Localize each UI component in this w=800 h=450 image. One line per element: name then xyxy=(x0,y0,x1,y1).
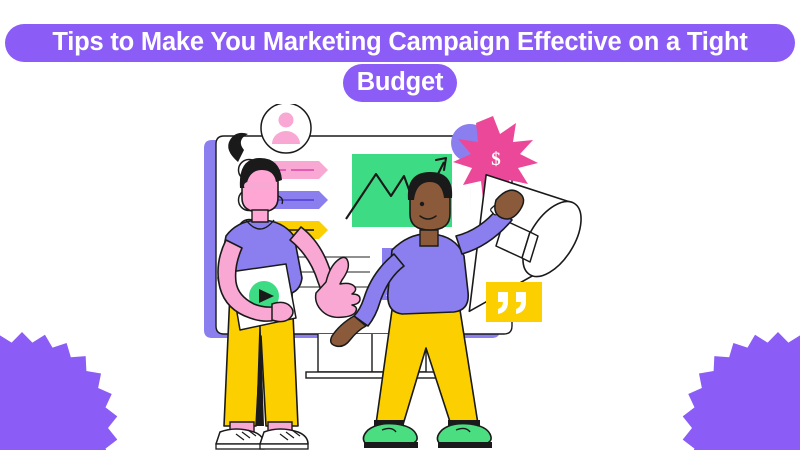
page-root: Tips to Make You Marketing Campaign Effe… xyxy=(0,0,800,450)
page-title-line-1: Tips to Make You Marketing Campaign Effe… xyxy=(5,24,795,62)
starburst-bottom-right xyxy=(678,328,800,450)
svg-text:$: $ xyxy=(491,149,501,170)
page-title: Tips to Make You Marketing Campaign Effe… xyxy=(0,24,800,102)
user-avatar xyxy=(261,104,311,153)
starburst-bottom-left xyxy=(0,328,122,450)
page-title-line-2: Budget xyxy=(343,64,458,102)
marketing-campaign-illustration: $ xyxy=(186,104,586,450)
quote-card xyxy=(486,282,542,322)
